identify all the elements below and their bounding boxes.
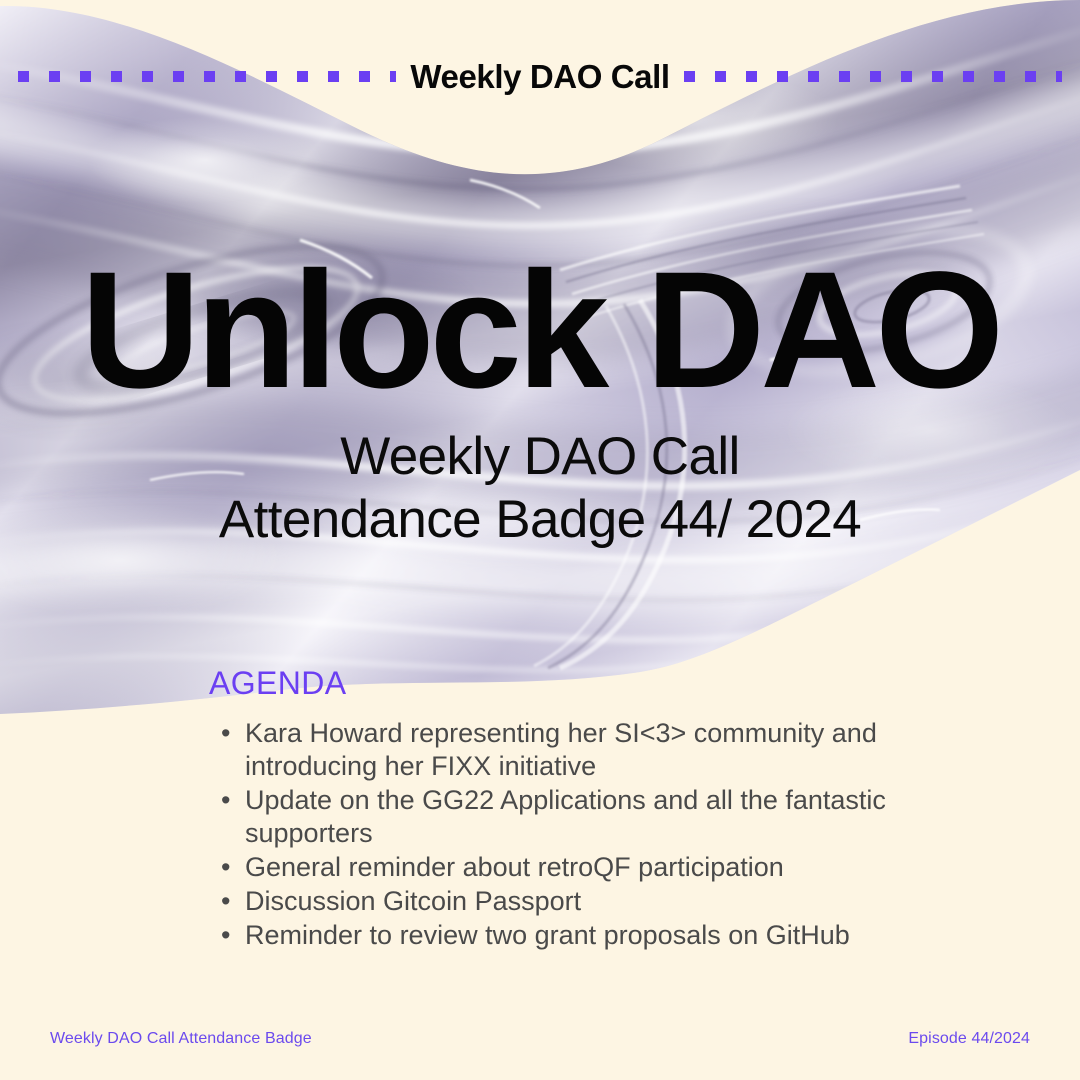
hero-subtitle: Weekly DAO Call Attendance Badge 44/ 202… [0,426,1080,551]
footer-bar: Weekly DAO Call Attendance Badge Episode… [0,1030,1080,1048]
agenda-item: Discussion Gitcoin Passport [209,885,909,918]
agenda-item: General reminder about retroQF participa… [209,851,909,884]
brand-title: Unlock DAO [0,258,1080,404]
poster-canvas: Weekly DAO Call Unlock DAO Weekly DAO Ca… [0,0,1080,1080]
hero-block: Unlock DAO Weekly DAO Call Attendance Ba… [0,258,1080,551]
header-title: Weekly DAO Call [396,60,683,93]
agenda-item: Update on the GG22 Applications and all … [209,784,909,850]
agenda-item: Reminder to review two grant proposals o… [209,919,909,952]
dotted-rail-left-icon [18,71,396,82]
agenda-heading: AGENDA [209,666,909,701]
agenda-list: Kara Howard representing her SI<3> commu… [209,717,909,952]
header-band: Weekly DAO Call [0,58,1080,94]
agenda-section: AGENDA Kara Howard representing her SI<3… [209,666,909,953]
dotted-rail-right-icon [684,71,1062,82]
footer-left-label: Weekly DAO Call Attendance Badge [50,1030,312,1048]
hero-subtitle-line-1: Weekly DAO Call [0,426,1080,489]
hero-subtitle-line-2: Attendance Badge 44/ 2024 [0,489,1080,552]
footer-right-label: Episode 44/2024 [908,1030,1030,1048]
agenda-item: Kara Howard representing her SI<3> commu… [209,717,909,783]
